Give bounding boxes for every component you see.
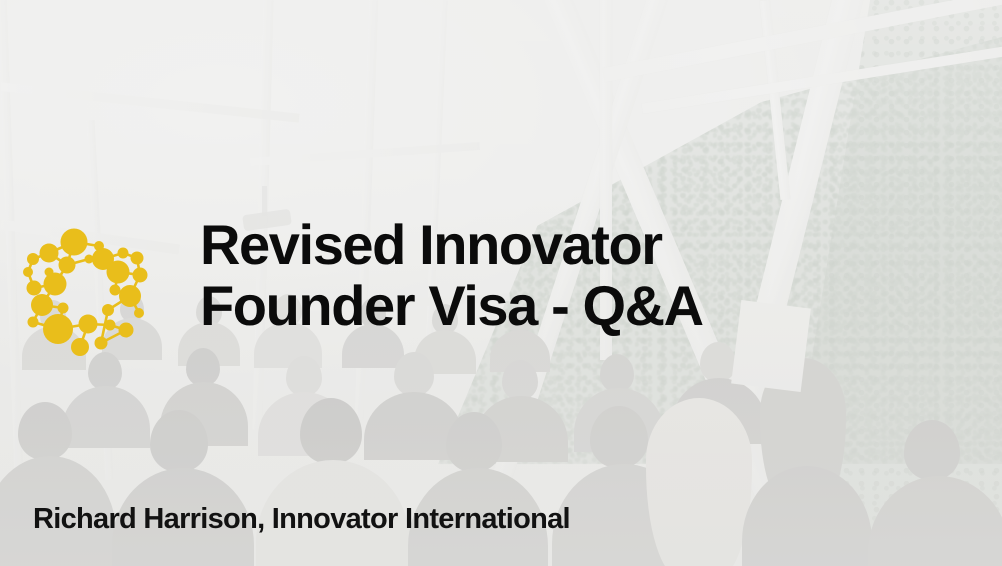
logo-node <box>61 229 88 256</box>
logo-node <box>119 323 134 338</box>
logo-node <box>59 257 76 274</box>
logo-node <box>134 308 144 318</box>
logo-node <box>43 314 73 344</box>
logo-node <box>119 285 141 307</box>
logo-node <box>58 303 69 314</box>
logo-node <box>40 244 59 263</box>
innovator-international-network-logo <box>22 212 174 334</box>
logo-node <box>23 267 33 277</box>
logo-node <box>102 304 114 316</box>
logo-node <box>107 261 130 284</box>
logo-node <box>118 248 129 259</box>
logo-node <box>71 338 89 356</box>
logo-node <box>110 285 121 296</box>
logo-node <box>105 320 116 331</box>
page-title: Revised Innovator Founder Visa - Q&A <box>200 214 940 336</box>
logo-node <box>28 317 39 328</box>
logo-node <box>133 268 148 283</box>
presenter-byline: Richard Harrison, Innovator Internationa… <box>33 502 570 536</box>
logo-node <box>27 253 39 265</box>
logo-node <box>79 315 98 334</box>
logo-node <box>95 337 108 350</box>
title-slide: Revised Innovator Founder Visa - Q&A Ric… <box>0 0 1002 566</box>
logo-node <box>44 273 67 296</box>
network-logo-icon <box>22 212 174 364</box>
logo-node <box>131 252 144 265</box>
logo-node <box>27 281 42 296</box>
logo-node <box>31 294 53 316</box>
